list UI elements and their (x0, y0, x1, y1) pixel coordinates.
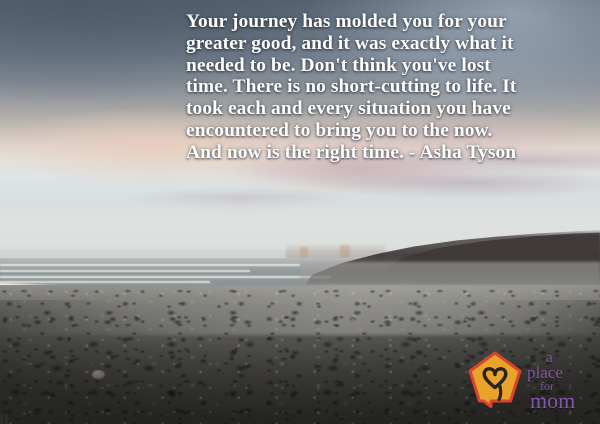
walker-silhouette (0, 413, 3, 424)
wave-line (0, 264, 300, 266)
a-place-for-mom-logo[interactable]: a place for mom (466, 348, 594, 410)
quote-text: Your journey has molded you for your gre… (186, 11, 584, 164)
house-heart-icon (466, 350, 524, 408)
wave-line (0, 276, 330, 278)
wave-line (0, 270, 250, 272)
logo-line-mom: mom (530, 390, 575, 412)
walker-silhouette (5, 414, 8, 424)
wave-line (0, 281, 210, 283)
quote-poster: Your journey has molded you for your gre… (0, 0, 600, 424)
logo-wordmark: a place for mom (526, 350, 594, 408)
